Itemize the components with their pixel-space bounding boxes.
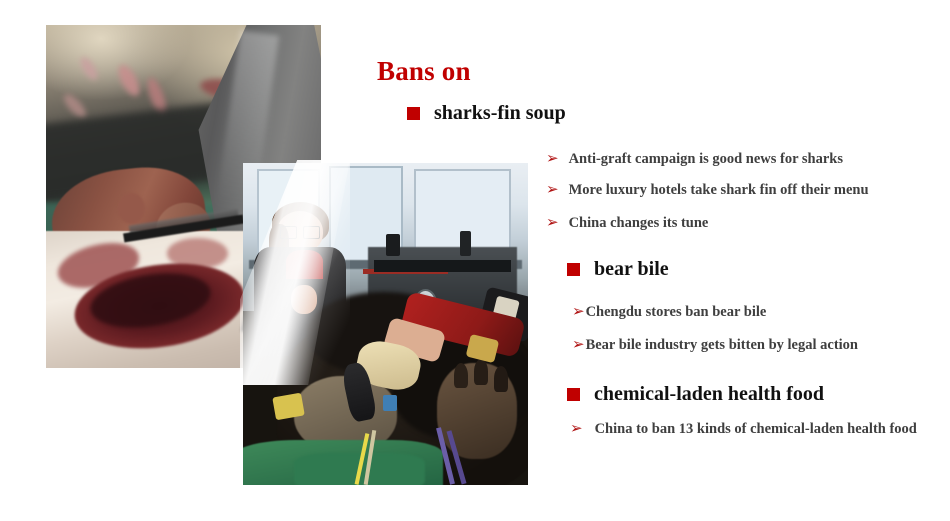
list-item: ➢ Chengdu stores ban bear bile bbox=[572, 303, 766, 321]
bear-bile-rescue-photo bbox=[243, 163, 528, 485]
arrow-bullet-icon: ➢ bbox=[546, 150, 559, 167]
list-item: ➢ More luxury hotels take shark fin off … bbox=[546, 181, 869, 199]
equipment-knob-2 bbox=[460, 231, 471, 257]
equipment-knob-1 bbox=[386, 234, 400, 257]
list-item: ➢ Bear bile industry gets bitten by lega… bbox=[572, 336, 858, 354]
vet-red-shirt bbox=[286, 250, 323, 279]
arrow-bullet-icon: ➢ bbox=[572, 303, 585, 320]
list-item-label: China changes its tune bbox=[569, 214, 709, 232]
arrow-bullet-icon: ➢ bbox=[570, 420, 583, 437]
square-bullet-icon bbox=[567, 263, 580, 276]
list-item-label: China to ban 13 kinds of chemical-laden … bbox=[595, 420, 925, 438]
section-heading-label: sharks-fin soup bbox=[434, 102, 566, 125]
vet-glasses-right-lens bbox=[303, 226, 320, 239]
vet-glasses-left-lens bbox=[280, 226, 297, 239]
hand-knuckle bbox=[118, 193, 146, 224]
list-item-label: Bear bile industry gets bitten by legal … bbox=[586, 336, 858, 354]
section-heading-sharks-fin-soup: sharks-fin soup bbox=[407, 102, 566, 125]
yellow-equipment bbox=[273, 393, 305, 420]
square-bullet-icon bbox=[567, 388, 580, 401]
list-item-label: More luxury hotels take shark fin off th… bbox=[569, 181, 869, 199]
section-heading-label: chemical-laden health food bbox=[594, 383, 824, 406]
vet-hand bbox=[291, 285, 317, 314]
arrow-bullet-icon: ➢ bbox=[546, 181, 559, 198]
section-heading-label: bear bile bbox=[594, 258, 669, 281]
bear-claw-1 bbox=[454, 363, 468, 389]
section-heading-chemical-laden-health-food: chemical-laden health food bbox=[567, 383, 824, 406]
list-item: ➢ China to ban 13 kinds of chemical-lade… bbox=[570, 420, 925, 438]
slide-canvas: Bans on sharks-fin soup ➢ Anti-graft cam… bbox=[0, 0, 950, 521]
list-item-label: Anti-graft campaign is good news for sha… bbox=[569, 150, 843, 168]
blue-clip bbox=[383, 395, 397, 411]
list-item: ➢ Anti-graft campaign is good news for s… bbox=[546, 150, 843, 168]
arrow-bullet-icon: ➢ bbox=[572, 336, 585, 353]
list-item: ➢ China changes its tune bbox=[546, 214, 708, 232]
list-item-label: Chengdu stores ban bear bile bbox=[586, 303, 767, 321]
square-bullet-icon bbox=[407, 107, 420, 120]
section-heading-bear-bile: bear bile bbox=[567, 258, 669, 281]
page-title: Bans on bbox=[377, 56, 471, 87]
bear-claw-2 bbox=[474, 359, 488, 385]
arrow-bullet-icon: ➢ bbox=[546, 214, 559, 231]
bear-claw-3 bbox=[494, 366, 508, 392]
equipment-rail bbox=[374, 260, 511, 273]
